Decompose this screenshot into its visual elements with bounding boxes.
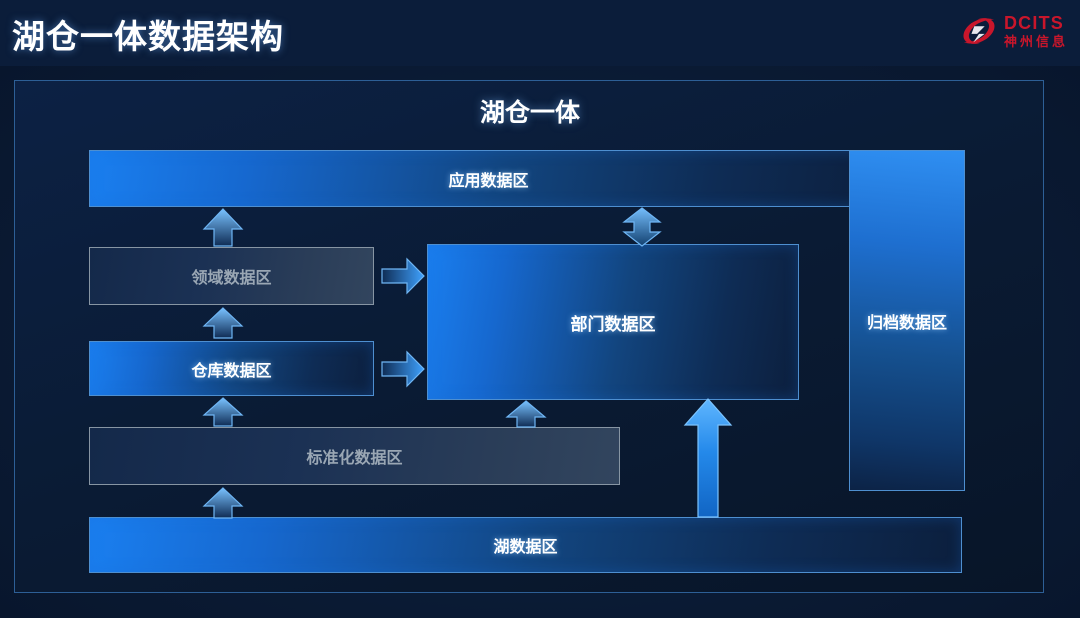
node-standard-data-zone[interactable]: 标准化数据区 — [89, 427, 620, 485]
arrow-warehouse-to-domain — [201, 307, 245, 339]
node-label: 应用数据区 — [448, 167, 528, 191]
slide-canvas: 湖仓一体数据架构 DCITS 神州信息 湖仓一体 应用数据区 领域数据区 仓库数… — [0, 0, 1080, 618]
logo-wordmark: DCITS 神州信息 — [1004, 14, 1068, 48]
node-label: 归档数据区 — [867, 309, 947, 333]
node-label: 部门数据区 — [571, 310, 656, 335]
arrow-dept-to-app-bidirectional — [619, 207, 665, 247]
dcits-swoosh-icon — [960, 14, 998, 48]
node-warehouse-data-zone[interactable]: 仓库数据区 — [89, 341, 374, 396]
panel-title: 湖仓一体 — [15, 93, 1045, 129]
arrow-lake-to-standard — [201, 487, 245, 519]
arrow-domain-to-app — [201, 208, 245, 247]
arrow-lake-to-dept — [682, 397, 734, 519]
node-domain-data-zone[interactable]: 领域数据区 — [89, 247, 374, 305]
node-label: 标准化数据区 — [306, 444, 402, 468]
node-label: 湖数据区 — [493, 533, 557, 557]
node-lake-data-zone[interactable]: 湖数据区 — [89, 517, 962, 573]
node-label: 仓库数据区 — [191, 357, 271, 381]
node-app-data-zone[interactable]: 应用数据区 — [89, 150, 888, 207]
arrow-domain-to-dept — [381, 257, 425, 295]
logo-en-text: DCITS — [1004, 14, 1064, 32]
dcits-logo: DCITS 神州信息 — [960, 9, 1068, 53]
node-archive-data-zone[interactable]: 归档数据区 — [849, 150, 965, 491]
logo-cn-text: 神州信息 — [1004, 35, 1068, 48]
arrow-warehouse-to-dept — [381, 350, 425, 388]
arrow-standard-to-dept — [504, 400, 548, 428]
node-label: 领域数据区 — [191, 264, 271, 288]
architecture-panel: 湖仓一体 应用数据区 领域数据区 仓库数据区 标准化数据区 湖数据区 部门数据区… — [14, 80, 1044, 593]
page-title: 湖仓一体数据架构 — [12, 10, 284, 58]
node-dept-data-zone[interactable]: 部门数据区 — [427, 244, 799, 400]
slide-header: 湖仓一体数据架构 DCITS 神州信息 — [0, 0, 1080, 66]
arrow-standard-to-warehouse — [201, 397, 245, 427]
